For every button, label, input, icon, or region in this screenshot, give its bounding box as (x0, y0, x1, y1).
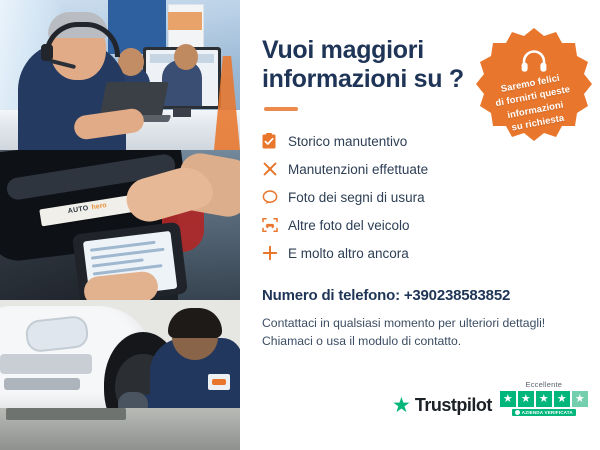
car-lower-grille (4, 378, 80, 390)
trustpilot-logo: ★ Trustpilot (392, 395, 492, 416)
wrench-cross-icon (262, 159, 288, 179)
feature-item-manutenzioni: Manutenzioni effettuate (262, 155, 578, 183)
headset-icon (520, 48, 548, 74)
star-icon: ★ (392, 395, 411, 416)
callout-badge: Saremo felici di fornirti queste informa… (474, 26, 594, 146)
plus-icon (262, 243, 288, 263)
lift-arm (6, 408, 126, 420)
feature-label: E molto altro ancora (288, 246, 409, 261)
feature-label: Manutenzioni effettuate (288, 162, 428, 177)
monitor-stand (173, 108, 191, 117)
star-icon: ★ (500, 391, 516, 407)
uniform-logo-badge (208, 374, 230, 390)
feature-label: Altre foto del veicolo (288, 218, 410, 233)
wall-poster-image (168, 12, 202, 30)
feature-list: Storico manutentivo Manutenzioni effettu… (262, 127, 578, 267)
contact-line-1: Contattaci in qualsiasi momento per ulte… (262, 316, 545, 330)
phone-number-line[interactable]: Numero di telefono: +390238583852 (262, 287, 578, 304)
advertisement-banner: hero (0, 0, 600, 450)
photo-column: hero (0, 0, 240, 450)
feature-item-foto-usura: Foto dei segni di usura (262, 183, 578, 211)
clipboard-check-icon (262, 131, 288, 151)
feature-item-altro: E molto altro ancora (262, 239, 578, 267)
trustpilot-name: Trustpilot (415, 395, 492, 416)
car-grille (0, 354, 92, 374)
title-underline (264, 107, 298, 111)
feature-item-altre-foto: Altre foto del veicolo (262, 211, 578, 239)
vehicle-inspection-photo: hero (0, 150, 240, 300)
page-title: Vuoi maggiori informazioni su ? (262, 36, 467, 93)
verified-label: AZIENDA VERIFICATA (522, 410, 573, 415)
feature-label: Storico manutentivo (288, 134, 407, 149)
star-rating: ★ ★ ★ ★ ★ (500, 391, 588, 407)
trustpilot-rating: Eccellente ★ ★ ★ ★ ★ AZIENDA VERIFICATA (500, 380, 588, 416)
feature-label: Foto dei segni di usura (288, 190, 425, 205)
content-panel: Vuoi maggiori informazioni su ? Storico … (240, 0, 600, 450)
star-icon-partial: ★ (572, 391, 588, 407)
star-icon: ★ (518, 391, 534, 407)
call-center-photo (0, 0, 240, 150)
check-icon (515, 410, 520, 415)
car-scan-icon (262, 215, 288, 235)
trustpilot-widget[interactable]: ★ Trustpilot Eccellente ★ ★ ★ ★ ★ AZIEND… (392, 380, 588, 416)
star-icon: ★ (536, 391, 552, 407)
verified-badge: AZIENDA VERIFICATA (512, 409, 576, 416)
speech-bubble-icon (262, 187, 288, 207)
contact-instructions: Contattaci in qualsiasi momento per ulte… (262, 314, 578, 351)
star-icon: ★ (554, 391, 570, 407)
contact-line-2: Chiamaci o usa il modulo di contatto. (262, 334, 461, 348)
rating-label: Eccellente (526, 380, 563, 389)
colleague-head-back (174, 44, 198, 70)
workshop-lift-photo (0, 300, 240, 450)
